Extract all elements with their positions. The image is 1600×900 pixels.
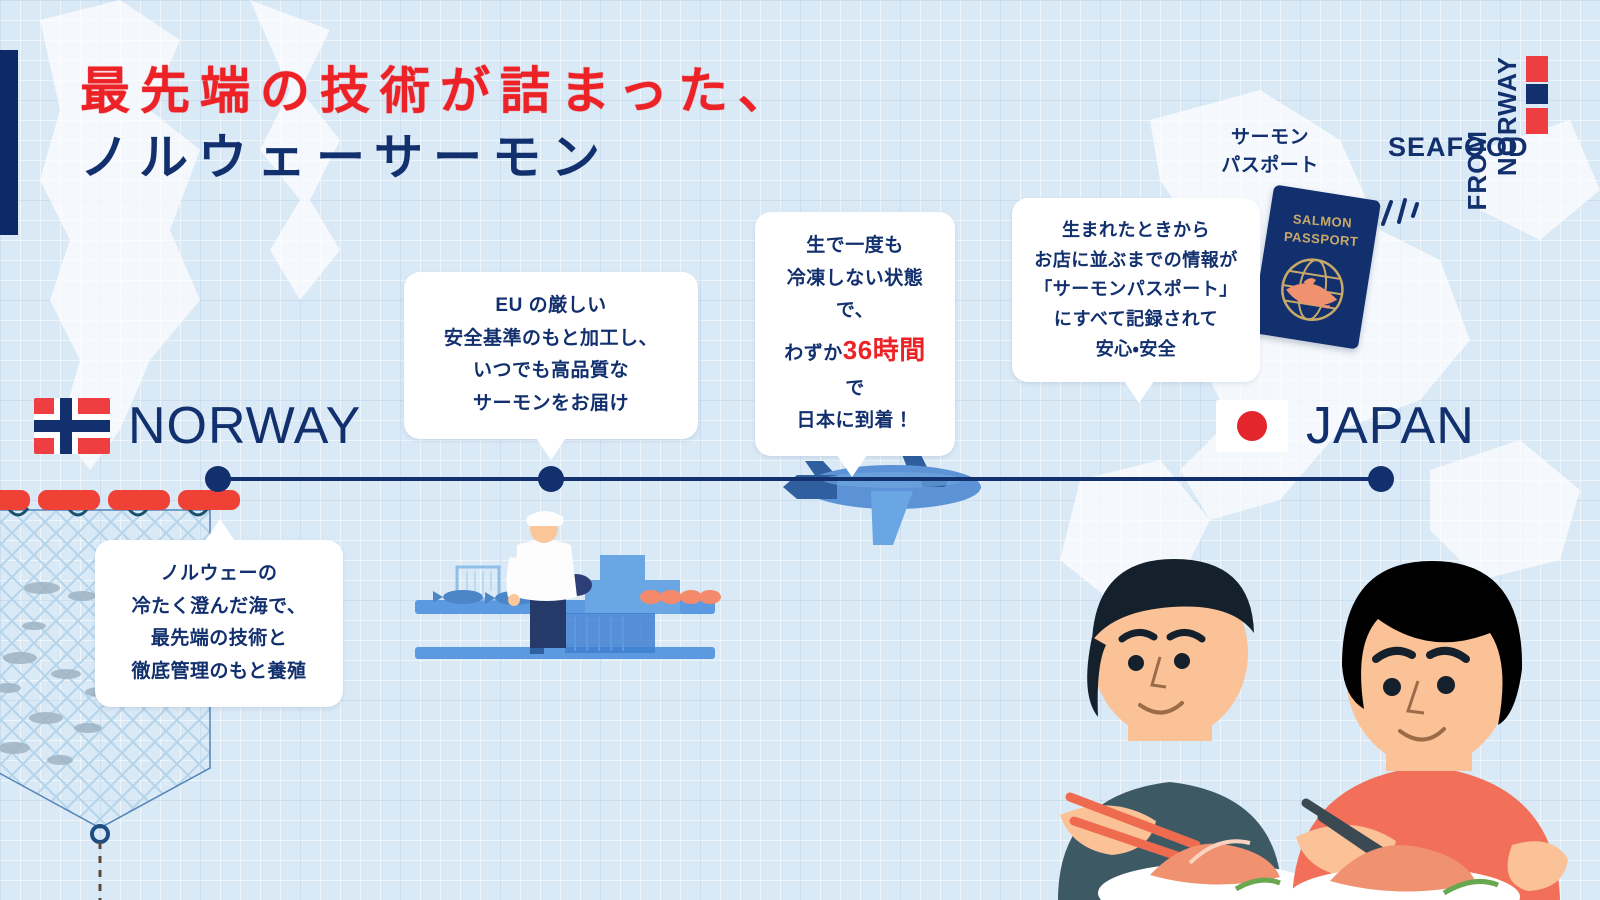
passport-sparkle-icon — [1375, 190, 1421, 236]
country-japan: JAPAN — [1216, 400, 1475, 452]
diner-man — [1058, 559, 1322, 900]
processing-factory — [405, 505, 730, 665]
norway-flag-icon — [34, 398, 110, 454]
passport-label-line-2: パスポート — [1205, 152, 1335, 180]
bubble-transport: 生で一度も 冷凍しない状態で、 わずか36時間で 日本に到着！ — [755, 212, 955, 456]
bubble-transport-line-2: 冷凍しない状態で、 — [777, 263, 933, 328]
bubble-transport-line-1: 生で一度も — [777, 230, 933, 263]
bubble-transport-highlight: 36時間 — [843, 335, 926, 365]
country-japan-label: JAPAN — [1306, 400, 1475, 452]
timeline-track — [218, 477, 1381, 481]
bubble-processing-line-3: いつでも高品質な — [426, 355, 676, 388]
bubble-traceability-line-3: 「サーモンパスポート」 — [1034, 275, 1238, 305]
japan-flag-icon — [1216, 400, 1288, 452]
bubble-processing-line-4: サーモンをお届け — [426, 388, 676, 421]
bubble-processing-line-2: 安全基準のもと加工し、 — [426, 323, 676, 356]
bubble-traceability-line-4: にすべて記録されて — [1034, 305, 1238, 335]
bubble-processing-line-1: EU の厳しい — [426, 290, 676, 323]
logo-from-text: FROM — [1462, 130, 1493, 211]
bubble-traceability-line-2: お店に並ぶまでの情報が — [1034, 246, 1238, 276]
accent-bar — [0, 50, 18, 235]
title-line-1: 最先端の技術が詰まった、 — [80, 62, 798, 121]
diners-illustration — [1000, 545, 1600, 900]
page-title: 最先端の技術が詰まった、 ノルウェーサーモン — [80, 62, 798, 191]
bubble-transport-line-3-post: で — [845, 378, 865, 399]
country-norway: NORWAY — [34, 398, 361, 454]
bubble-traceability-line-5: 安心・安全 — [1034, 335, 1238, 365]
seafood-from-norway-logo: SEAFOOD FROM NORWAY — [1388, 38, 1578, 198]
bubble-farming-line-3: 最先端の技術と — [117, 623, 321, 656]
country-norway-label: NORWAY — [128, 400, 361, 452]
bubble-processing: EU の厳しい 安全基準のもと加工し、 いつでも高品質な サーモンをお届け — [404, 272, 698, 439]
timeline-dot-norway[interactable] — [205, 466, 231, 492]
bubble-transport-line-3-pre: わずか — [784, 343, 843, 364]
bubble-farming-line-2: 冷たく澄んだ海で、 — [117, 591, 321, 624]
logo-flag-icon — [1526, 56, 1548, 134]
timeline-dot-japan[interactable] — [1368, 466, 1394, 492]
bubble-farming: ノルウェーの 冷たく澄んだ海で、 最先端の技術と 徹底管理のもと養殖 — [95, 540, 343, 707]
bubble-transport-line-3: わずか36時間で — [777, 328, 933, 405]
passport-cover-title: SALMON PASSPORT — [1267, 209, 1377, 252]
timeline-dot-processing[interactable] — [538, 466, 564, 492]
passport-label-line-1: サーモン — [1205, 124, 1335, 152]
bubble-traceability: 生まれたときから お店に並ぶまでの情報が 「サーモンパスポート」 にすべて記録さ… — [1012, 198, 1260, 382]
passport-label: サーモン パスポート — [1205, 124, 1335, 179]
infographic-canvas: 最先端の技術が詰まった、 ノルウェーサーモン SEAFOOD FROM NORW… — [0, 0, 1600, 900]
bubble-transport-line-4: 日本に到着！ — [777, 405, 933, 438]
globe-salmon-emblem — [1271, 249, 1353, 331]
logo-norway-text: NORWAY — [1492, 56, 1523, 176]
title-line-2: ノルウェーサーモン — [80, 127, 798, 191]
bubble-traceability-line-1: 生まれたときから — [1034, 216, 1238, 246]
diner-woman — [1288, 561, 1568, 900]
bubble-farming-line-4: 徹底管理のもと養殖 — [117, 656, 321, 689]
bubble-farming-line-1: ノルウェーの — [117, 558, 321, 591]
